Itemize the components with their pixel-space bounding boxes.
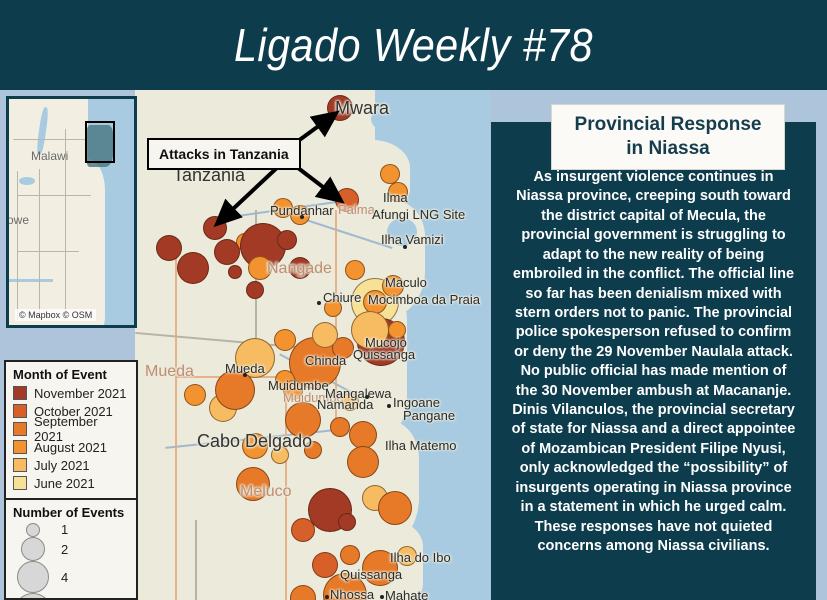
city-dot-ilha-vamizi (403, 245, 407, 249)
article-panel: As insurgent violence continues in Niass… (491, 122, 816, 600)
event-bubble[interactable] (338, 513, 356, 531)
event-map[interactable]: MwaraTanzaniaPundanharPalmaIlmaAfungi LN… (135, 90, 490, 600)
inset-extent-box (85, 121, 115, 163)
legend-size-label: 2 (61, 542, 68, 557)
map-label: Pangane (403, 408, 455, 423)
legend-month-label: June 2021 (34, 476, 95, 491)
map-label: Namanda (317, 397, 373, 412)
event-bubble[interactable] (347, 446, 379, 478)
event-bubble[interactable] (378, 491, 412, 525)
inset-border-2 (39, 169, 40, 319)
map-label: Ilma (383, 190, 408, 205)
event-bubble[interactable] (184, 384, 206, 406)
event-bubble[interactable] (156, 235, 182, 261)
legend-month-label: November 2021 (34, 386, 127, 401)
event-bubble[interactable] (349, 421, 377, 449)
legend-size-bubble-wrap (13, 537, 53, 561)
map-label: Palma (338, 202, 375, 217)
legend-size-bubble-wrap (13, 593, 53, 600)
legend-color-swatch (13, 422, 27, 436)
legend-month-row[interactable]: November 2021 (13, 384, 128, 402)
event-bubble[interactable] (312, 322, 338, 348)
map-label: Mahate (385, 588, 428, 600)
map-label: Meluco (240, 483, 292, 501)
legend-number-of-events: Number of Events 1246 (4, 498, 138, 600)
inset-label-malawi: Malawi (31, 149, 68, 163)
legend-size-bubble (21, 537, 45, 561)
article-heading: Provincial Response in Niassa (551, 104, 785, 170)
map-label: Maculo (385, 275, 427, 290)
map-label: Ilha do Ibo (390, 550, 451, 565)
legend-month-row[interactable]: September 2021 (13, 420, 128, 438)
map-attribution: © Mapbox © OSM (15, 309, 96, 321)
city-dot-ilala (365, 395, 369, 399)
city-dot-nhossa (325, 595, 329, 599)
city-dot-chiure (317, 301, 321, 305)
city-dot-ingoane (387, 404, 391, 408)
legend-size-row[interactable]: 2 (13, 537, 128, 561)
legend-color-swatch (13, 476, 27, 490)
article-heading-line2: in Niassa (562, 137, 774, 161)
legend-color-swatch (13, 404, 27, 418)
legend-size-bubble (26, 523, 40, 537)
callout-label: Attacks in Tanzania (159, 146, 289, 162)
legend-month-label: August 2021 (34, 440, 107, 455)
legend-count-title: Number of Events (13, 505, 128, 520)
article-body: As insurgent violence continues in Niass… (503, 158, 804, 556)
inset-border-6 (13, 139, 87, 140)
event-bubble[interactable] (291, 518, 315, 542)
article-heading-line1: Provincial Response (562, 113, 774, 137)
district-border-3 (195, 520, 197, 600)
event-bubble[interactable] (228, 265, 242, 279)
legend-month-label: July 2021 (34, 458, 90, 473)
map-label: Quissanga (340, 567, 402, 582)
event-bubble[interactable] (345, 260, 365, 280)
legend-month-rows: November 2021October 2021September 2021A… (13, 384, 128, 492)
legend-size-bubble (14, 593, 52, 600)
legend-month-row[interactable]: July 2021 (13, 456, 128, 474)
legend-size-bubble (17, 561, 49, 593)
legend-month-title: Month of Event (13, 367, 128, 382)
inset-lake-2 (19, 177, 35, 185)
inset-locator-map[interactable]: Malawi owe © Mapbox © OSM (6, 96, 137, 328)
map-label: Chiure (323, 290, 361, 305)
city-dot-pundanhar (300, 215, 304, 219)
screenshot-root: Ligado Weekly #78 MwaraTa (0, 0, 827, 600)
map-label: Quissanga (353, 347, 415, 362)
inset-border-5 (17, 251, 79, 252)
event-bubble[interactable] (274, 329, 296, 351)
map-label: Mwara (335, 98, 389, 119)
event-bubble[interactable] (246, 281, 264, 299)
inset-label-zimbabwe: owe (7, 213, 29, 227)
map-label: Cabo Delgado (197, 431, 312, 452)
legend-count-rows: 1246 (13, 522, 128, 600)
event-bubble[interactable] (203, 216, 227, 240)
event-bubble[interactable] (215, 370, 255, 410)
legend-size-label: 4 (61, 570, 68, 585)
event-bubble[interactable] (380, 164, 400, 184)
event-bubble[interactable] (330, 417, 350, 437)
legend-month-of-event: Month of Event November 2021October 2021… (4, 360, 138, 500)
legend-size-label: 1 (61, 522, 68, 537)
legend-color-swatch (13, 440, 27, 454)
map-label: Mueda (145, 363, 194, 381)
map-label: Chinda (305, 353, 346, 368)
event-bubble[interactable] (214, 239, 240, 265)
legend-size-bubble-wrap (13, 523, 53, 537)
legend-size-row[interactable]: 1 (13, 522, 128, 537)
page-title: Ligado Weekly #78 (234, 18, 593, 72)
inset-border-1 (17, 171, 18, 321)
map-label: Afungi LNG Site (372, 207, 465, 222)
inset-border-4 (17, 195, 91, 196)
city-dot-mueda (243, 373, 247, 377)
event-bubble[interactable] (177, 252, 209, 284)
legend-month-row[interactable]: June 2021 (13, 474, 128, 492)
city-dot-mahate (380, 595, 384, 599)
header-bar: Ligado Weekly #78 (0, 0, 827, 90)
map-label: Ilha Matemo (385, 438, 457, 453)
road-1 (175, 240, 177, 600)
event-bubble[interactable] (312, 552, 338, 578)
map-label: Ilha Vamizi (381, 232, 444, 247)
event-bubble[interactable] (340, 545, 360, 565)
inset-river (9, 279, 53, 282)
legend-size-row[interactable]: 6 (13, 593, 128, 600)
legend-color-swatch (13, 458, 27, 472)
legend-size-bubble-wrap (13, 561, 53, 593)
map-label: Mocimboa da Praia (368, 292, 480, 307)
attacks-in-tanzania-callout[interactable]: Attacks in Tanzania (147, 138, 301, 170)
legend-color-swatch (13, 386, 27, 400)
legend-size-row[interactable]: 4 (13, 561, 128, 593)
event-bubble[interactable] (277, 230, 297, 250)
map-label: Nangade (267, 260, 332, 278)
map-label: Nhossa (330, 587, 374, 600)
